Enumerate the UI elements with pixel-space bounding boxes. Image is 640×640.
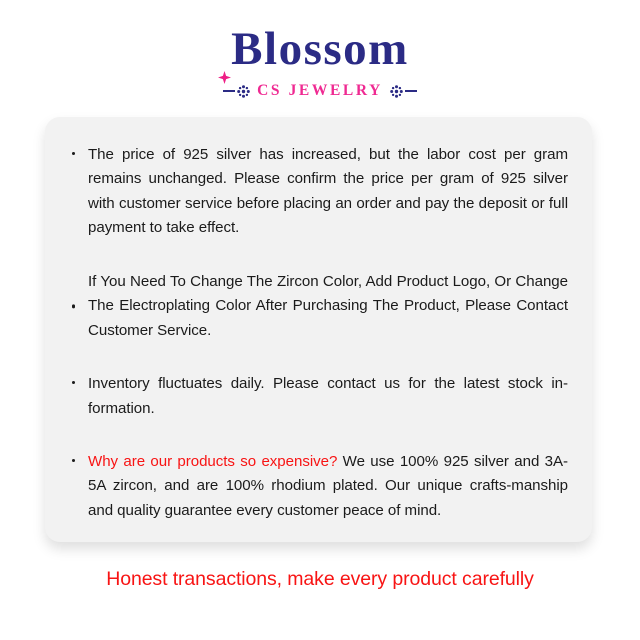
flower-ornament-icon-left — [223, 85, 250, 98]
brand-wordmark-text: Blossom — [231, 23, 409, 75]
bullet-text-customization-notice: If You Need To Change The Zircon Color, … — [88, 273, 568, 339]
notice-card: The price of 925 silver has increased, b… — [45, 117, 592, 542]
notice-bullet-list: The price of 925 silver has increased, b… — [67, 143, 568, 523]
list-item: Why are our products so expensive? We us… — [67, 450, 568, 523]
bullet-highlight-question: Why are our products so expensive? — [88, 453, 337, 470]
ornament-flower-left — [237, 85, 250, 98]
brand-subtitle-text: CS JEWELRY — [257, 82, 383, 100]
list-item: Inventory fluctuates daily. Please conta… — [67, 372, 568, 421]
bullet-text-price-notice: The price of 925 silver has increased, b… — [88, 146, 568, 236]
sparkle-diamond-icon — [218, 46, 231, 59]
footer-tagline: Honest transactions, make every product … — [0, 568, 640, 591]
bullet-marker-icon — [72, 152, 75, 155]
ornament-flower-right — [390, 85, 403, 98]
flower-ornament-icon-right — [390, 85, 417, 98]
brand-subtitle-row: CS JEWELRY — [0, 82, 640, 100]
bullet-marker-icon — [72, 305, 75, 308]
brand-wordmark: Blossom — [231, 26, 409, 73]
list-item: If You Need To Change The Zircon Color, … — [67, 270, 568, 343]
ornament-dash-right — [405, 90, 417, 92]
bullet-text-inventory-notice: Inventory fluctuates daily. Please conta… — [88, 375, 568, 416]
list-item: The price of 925 silver has increased, b… — [67, 143, 568, 241]
bullet-marker-icon — [72, 459, 75, 462]
bullet-marker-icon — [72, 381, 75, 384]
ornament-dash-left — [223, 90, 235, 92]
brand-header: Blossom CS JEWELRY — [0, 0, 640, 100]
